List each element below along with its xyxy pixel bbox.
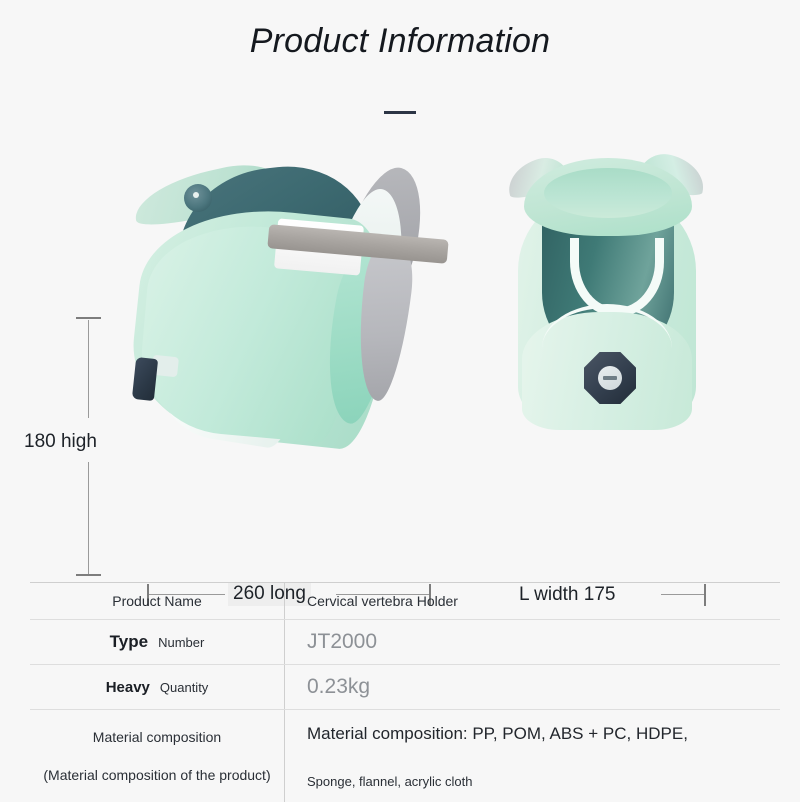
height-dimension-line-lower: [88, 462, 89, 575]
table-row: Product Name Cervical vertebra Holder: [30, 583, 780, 620]
height-dimension-line-upper: [88, 320, 89, 418]
spec-value-text: Material composition: PP, POM, ABS + PC,…: [307, 724, 780, 744]
spec-label-text: Heavy: [106, 679, 150, 696]
height-dimension-cap-top: [76, 317, 101, 319]
spec-value-text: Cervical vertebra Holder: [307, 593, 780, 609]
spec-value-text: JT2000: [307, 630, 780, 654]
spec-label-group: Type Number: [110, 632, 205, 652]
spec-value-secondary-text: Sponge, flannel, acrylic cloth: [307, 774, 780, 789]
spec-value-text: 0.23kg: [307, 675, 780, 699]
product-gallery: 180 high 260 long L width 175: [0, 140, 800, 490]
spec-label-secondary-text: (Material composition of the product): [43, 767, 270, 783]
spec-label-cell: Heavy Quantity: [30, 665, 285, 709]
collar-front-chin-hollow-shape: [544, 168, 672, 218]
collar-adjustment-knob-center-shape: [598, 366, 622, 390]
spec-label-text: Material composition: [93, 729, 221, 745]
product-image-side-view: [128, 160, 468, 445]
collar-pivot-screw-shape: [184, 184, 212, 212]
spec-label-text: Type: [110, 632, 148, 652]
spec-label-secondary-text: Quantity: [160, 680, 208, 695]
spec-label-secondary-text: Number: [158, 635, 204, 650]
height-dimension-label: 180 high: [24, 431, 97, 453]
product-image-front-view: [498, 154, 714, 444]
height-dimension-cap-bottom: [76, 574, 101, 576]
table-row: Type Number JT2000: [30, 620, 780, 665]
title-divider: [384, 111, 416, 114]
spec-value-cell: Cervical vertebra Holder: [285, 583, 780, 619]
spec-label-cell: Type Number: [30, 620, 285, 664]
spec-value-cell: JT2000: [285, 620, 780, 664]
spec-label-group: Heavy Quantity: [106, 679, 209, 696]
page-title: Product Information: [0, 22, 800, 61]
spec-value-cell: Material composition: PP, POM, ABS + PC,…: [285, 710, 780, 802]
table-row: Material composition (Material compositi…: [30, 710, 780, 802]
spec-label-cell: Product Name: [30, 583, 285, 619]
table-row: Heavy Quantity 0.23kg: [30, 665, 780, 710]
collar-navy-clip-shape: [132, 357, 158, 401]
spec-label-text: Product Name: [112, 593, 201, 609]
spec-label-cell: Material composition (Material compositi…: [30, 710, 285, 802]
specification-table: Product Name Cervical vertebra Holder Ty…: [30, 582, 780, 802]
spec-value-cell: 0.23kg: [285, 665, 780, 709]
